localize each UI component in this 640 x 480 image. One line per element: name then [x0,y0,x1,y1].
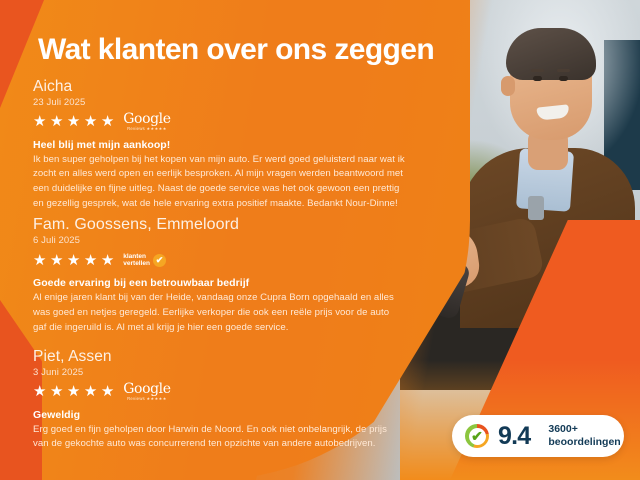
star-icon: ★ [67,384,80,399]
reviewer-name: Piet, Assen [33,348,405,366]
star-icon: ★ [84,253,97,268]
star-icon: ★ [101,384,114,399]
review-card: Aicha 23 Juli 2025 ★ ★ ★ ★ ★ Google Revi… [33,78,405,211]
star-icon: ★ [101,114,114,129]
klantenvertellen-wordmark: klanten vertellen [123,253,150,268]
score-meta: 3600+ beoordelingen [548,423,620,448]
google-reviews-sublabel: Reviews ★★★★★ [127,127,167,131]
score-value: 9.4 [498,422,530,451]
star-icon: ★ [84,114,97,129]
review-headline: Heel blij met mijn aankoop! [33,139,405,151]
star-icon: ★ [84,384,97,399]
reviewer-name: Aicha [33,78,405,96]
review-headline: Geweldig [33,409,405,421]
star-icon: ★ [50,114,63,129]
overall-score-badge[interactable]: ✔ 9.4 3600+ beoordelingen [452,415,624,457]
google-reviews-logo: Google Reviews ★★★★★ [123,382,170,401]
google-reviews-logo: Google Reviews ★★★★★ [123,112,170,131]
star-rating-icons: ★ ★ ★ ★ ★ [33,253,114,268]
reviewer-name: Fam. Goossens, Emmeloord [33,216,405,234]
star-icon: ★ [33,253,46,268]
review-date: 6 Juli 2025 [33,235,405,246]
star-icon: ★ [101,253,114,268]
star-icon: ★ [50,384,63,399]
google-wordmark: Google [123,112,170,126]
star-icon: ★ [33,384,46,399]
seal-checkmark-icon: ✔ [469,428,486,445]
review-count-label: beoordelingen [548,436,620,449]
klantenvertellen-seal-icon: ✔ [465,424,489,448]
google-reviews-sublabel: Reviews ★★★★★ [127,397,167,401]
review-rating-row: ★ ★ ★ ★ ★ Google Reviews ★★★★★ [33,382,405,402]
review-date: 3 Juni 2025 [33,367,405,378]
star-icon: ★ [67,253,80,268]
review-headline: Goede ervaring bij een betrouwbaar bedri… [33,277,405,289]
google-wordmark: Google [123,382,170,396]
star-rating-icons: ★ ★ ★ ★ ★ [33,114,114,129]
content-layer: Wat klanten over ons zeggen Aicha 23 Jul… [0,0,640,480]
review-body: Ik ben super geholpen bij het kopen van … [33,153,405,211]
review-date: 23 Juli 2025 [33,97,405,108]
star-rating-icons: ★ ★ ★ ★ ★ [33,384,114,399]
review-count: 3600+ [548,423,620,436]
klantenvertellen-line2: vertellen [123,260,150,267]
review-body: Erg goed en fijn geholpen door Harwin de… [33,423,405,452]
checkmark-seal-icon: ✔ [153,254,166,267]
review-card: Fam. Goossens, Emmeloord 6 Juli 2025 ★ ★… [33,216,405,335]
review-rating-row: ★ ★ ★ ★ ★ Google Reviews ★★★★★ [33,112,405,132]
star-icon: ★ [67,114,80,129]
page-title: Wat klanten over ons zeggen [38,33,434,67]
review-card: Piet, Assen 3 Juni 2025 ★ ★ ★ ★ ★ Google… [33,348,405,452]
klantenvertellen-line1: klanten [123,253,150,260]
klantenvertellen-logo: klanten vertellen ✔ [123,253,166,268]
review-body: Al enige jaren klant bij van der Heide, … [33,291,405,335]
review-rating-row: ★ ★ ★ ★ ★ klanten vertellen ✔ [33,250,405,270]
star-icon: ★ [33,114,46,129]
star-icon: ★ [50,253,63,268]
